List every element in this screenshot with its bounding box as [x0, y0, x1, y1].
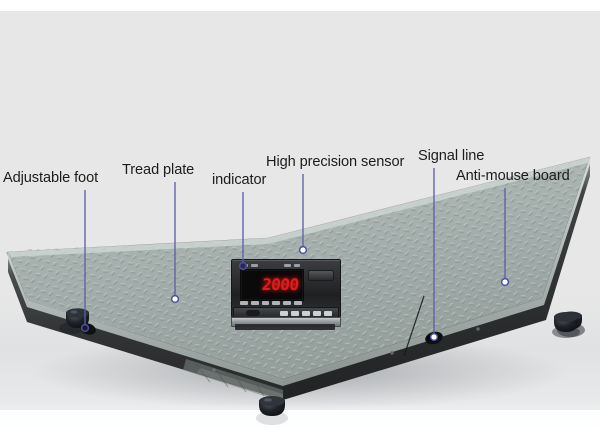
status-lamp [242, 264, 248, 267]
callout-label-high-precision-sensor: High precision sensor [266, 154, 404, 171]
annunciator [283, 301, 291, 305]
indicator-status-lamps [242, 263, 300, 267]
status-lamp-spacer [261, 264, 270, 267]
callout-label-signal-line: Signal line [418, 148, 484, 165]
floor-scale-illustration [0, 0, 600, 428]
indicator-knob[interactable] [246, 310, 260, 316]
keypad-key[interactable] [280, 311, 288, 316]
indicator-annunciators [240, 301, 302, 306]
annunciator [262, 301, 270, 305]
foot-front-right [552, 312, 580, 338]
status-lamp-spacer [272, 264, 281, 267]
foot-front-center [256, 396, 288, 425]
foot-left-body [66, 308, 89, 328]
panel-screw-1 [390, 351, 393, 354]
callout-label-adjustable-foot: Adjustable foot [3, 170, 98, 187]
indicator-display-bezel: 2000 [240, 269, 304, 301]
status-lamp [284, 264, 290, 267]
annunciator [272, 301, 280, 305]
status-lamp [251, 264, 257, 267]
indicator-display-value: 2000 [262, 277, 300, 293]
panel-screw-2 [476, 327, 479, 330]
weight-indicator[interactable]: 2000 [231, 259, 339, 329]
indicator-base-shadow [235, 324, 335, 330]
status-lamp [294, 264, 300, 267]
annunciator [240, 301, 248, 305]
callout-label-indicator: indicator [212, 172, 266, 189]
annunciator [294, 301, 302, 305]
indicator-key-row[interactable] [280, 311, 332, 316]
keypad-key[interactable] [313, 311, 321, 316]
annunciator [251, 301, 259, 305]
indicator-vent-icon [308, 270, 334, 281]
callout-label-tread-plate: Tread plate [122, 162, 194, 179]
keypad-key[interactable] [324, 311, 332, 316]
callout-label-anti-mouse-board: Anti-mouse board [456, 168, 570, 185]
keypad-key[interactable] [291, 311, 299, 316]
keypad-key[interactable] [302, 311, 310, 316]
diagram-canvas: 2000 [0, 0, 600, 428]
indicator-display: 2000 [242, 271, 302, 299]
